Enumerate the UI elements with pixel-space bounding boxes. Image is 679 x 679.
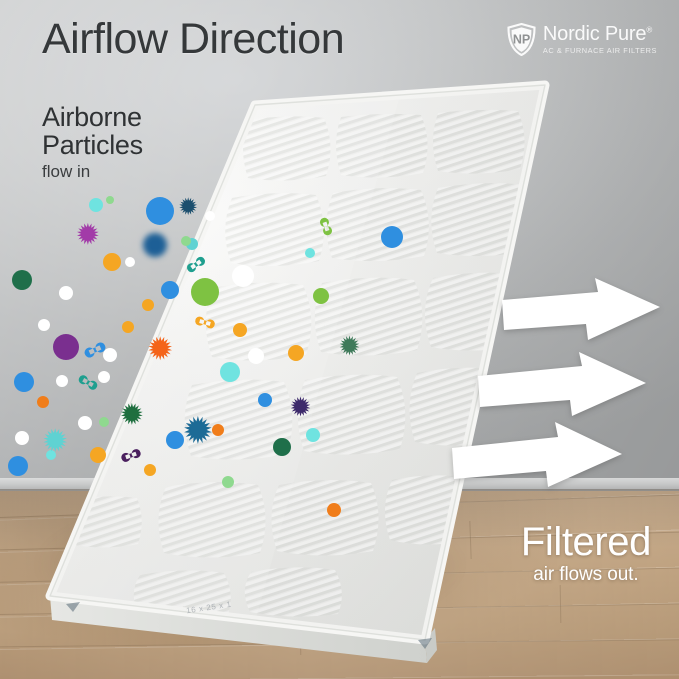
particle-germ (336, 332, 363, 359)
particle-dot (258, 393, 272, 407)
particle-fiber (120, 447, 142, 462)
particle-dot (161, 281, 179, 299)
particle-dot (205, 211, 215, 221)
particle-dot (98, 371, 110, 383)
particle-dot (56, 375, 68, 387)
particle-dot (53, 334, 79, 360)
particle-dot (248, 348, 264, 364)
particle-germ (144, 332, 176, 364)
particle-dot (313, 288, 329, 304)
particle-dot (146, 197, 174, 225)
particle-fiber (194, 315, 216, 329)
filtered-caption: air flows out. (521, 563, 651, 587)
particle-dot (273, 438, 291, 456)
particle-dot (191, 278, 219, 306)
particle-dot (288, 345, 304, 361)
particle-dot (142, 299, 154, 311)
product-marketing-image: Airflow Direction Airborne Particles flo… (0, 0, 679, 679)
particle-dot (59, 286, 73, 300)
particle-fiber (319, 216, 334, 236)
particle-dot (99, 417, 109, 427)
particle-dot (143, 233, 167, 257)
particle-dot (327, 503, 341, 517)
particle-dot (103, 253, 121, 271)
particle-germ (176, 194, 200, 218)
particle-germ (179, 411, 217, 449)
particle-dot (220, 362, 240, 382)
particle-germ (117, 399, 147, 429)
particle-dot (78, 416, 92, 430)
particle-dot (381, 226, 403, 248)
particle-dot (12, 270, 32, 290)
particle-dot (14, 372, 34, 392)
particle-dot (306, 428, 320, 442)
particle-dot (122, 321, 134, 333)
particle-dot (15, 431, 29, 445)
particle-fiber (77, 373, 99, 391)
particle-dot (125, 257, 135, 267)
airflow-out-arrow (452, 422, 624, 494)
particle-dot (222, 476, 234, 488)
particle-dot (144, 464, 156, 476)
particle-dot (8, 456, 28, 476)
particle-dot (89, 198, 103, 212)
particle-dot (90, 447, 106, 463)
particle-germ (73, 219, 103, 249)
particle-germ (287, 393, 314, 420)
particle-germ (39, 424, 71, 456)
particle-dot (37, 396, 49, 408)
particle-dot (38, 319, 50, 331)
particle-dot (232, 265, 254, 287)
particle-dot (233, 323, 247, 337)
particle-dot (305, 248, 315, 258)
particle-dot (181, 236, 191, 246)
airflow-out-arrow (502, 278, 662, 348)
particle-dot (106, 196, 114, 204)
particle-fiber (185, 255, 207, 274)
filtered-title: Filtered (521, 521, 651, 563)
airflow-out-arrow (478, 352, 648, 424)
filtered-callout: Filtered air flows out. (521, 521, 651, 587)
